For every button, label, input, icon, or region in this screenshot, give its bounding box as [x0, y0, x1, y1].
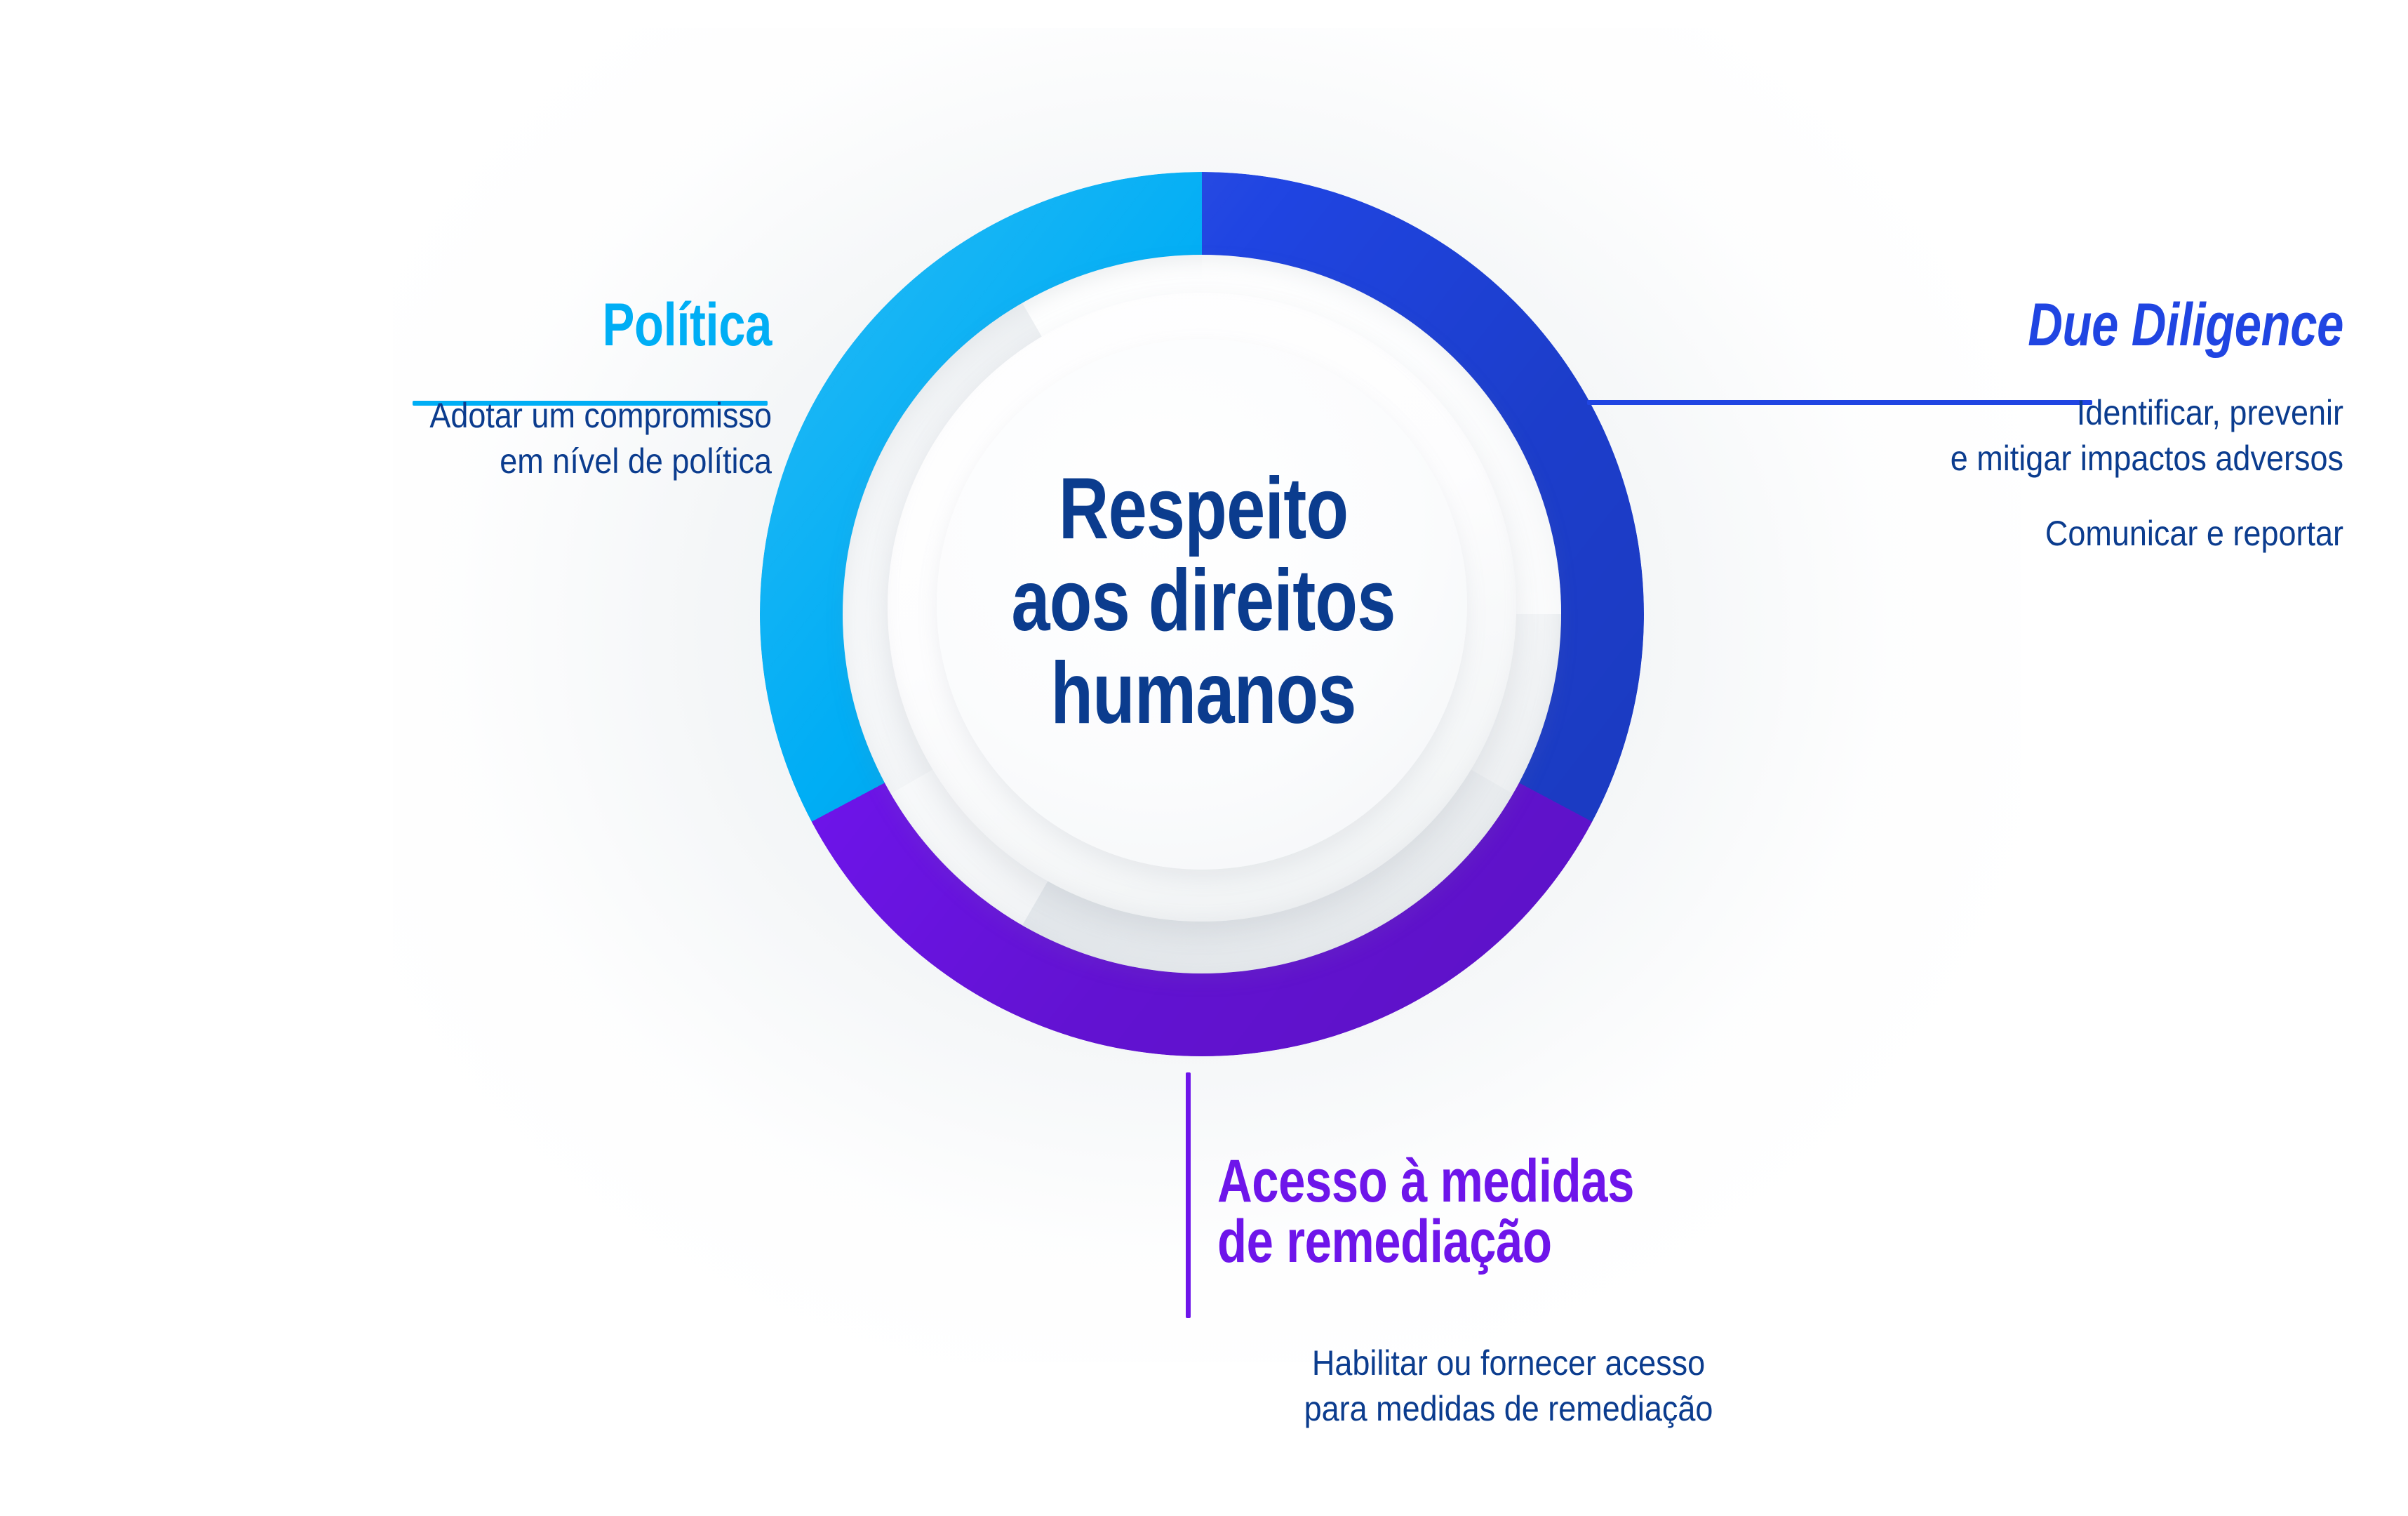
callout-remedy[interactable]: Acesso à medidas de remediação Habilitar… [1217, 1151, 1919, 1272]
callout-diligence-title: Due Diligence [1777, 295, 2343, 355]
callout-policy-paragraph-1: Adotar um compromisso em nível de políti… [178, 393, 772, 484]
callout-diligence[interactable]: Due Diligence Identificar, prevenir e mi… [1635, 295, 2343, 557]
leader-line-remedy [1186, 1072, 1191, 1318]
infographic-canvas: Respeito aos direitos humanos Política A… [0, 0, 2408, 1516]
callout-diligence-paragraph-1: Identificar, prevenir e mitigar impactos… [1706, 390, 2343, 481]
callout-remedy-paragraph-1: Habilitar ou fornecer acesso para medida… [1231, 1341, 1786, 1432]
callout-diligence-paragraph-2: Comunicar e reportar [1706, 511, 2343, 557]
callout-remedy-title: Acesso à medidas de remediação [1217, 1151, 1779, 1272]
callout-policy[interactable]: Política Adotar um compromisso em nível … [112, 295, 772, 484]
callout-policy-title: Política [244, 295, 772, 355]
center-title: Respeito aos direitos humanos [906, 463, 1501, 740]
